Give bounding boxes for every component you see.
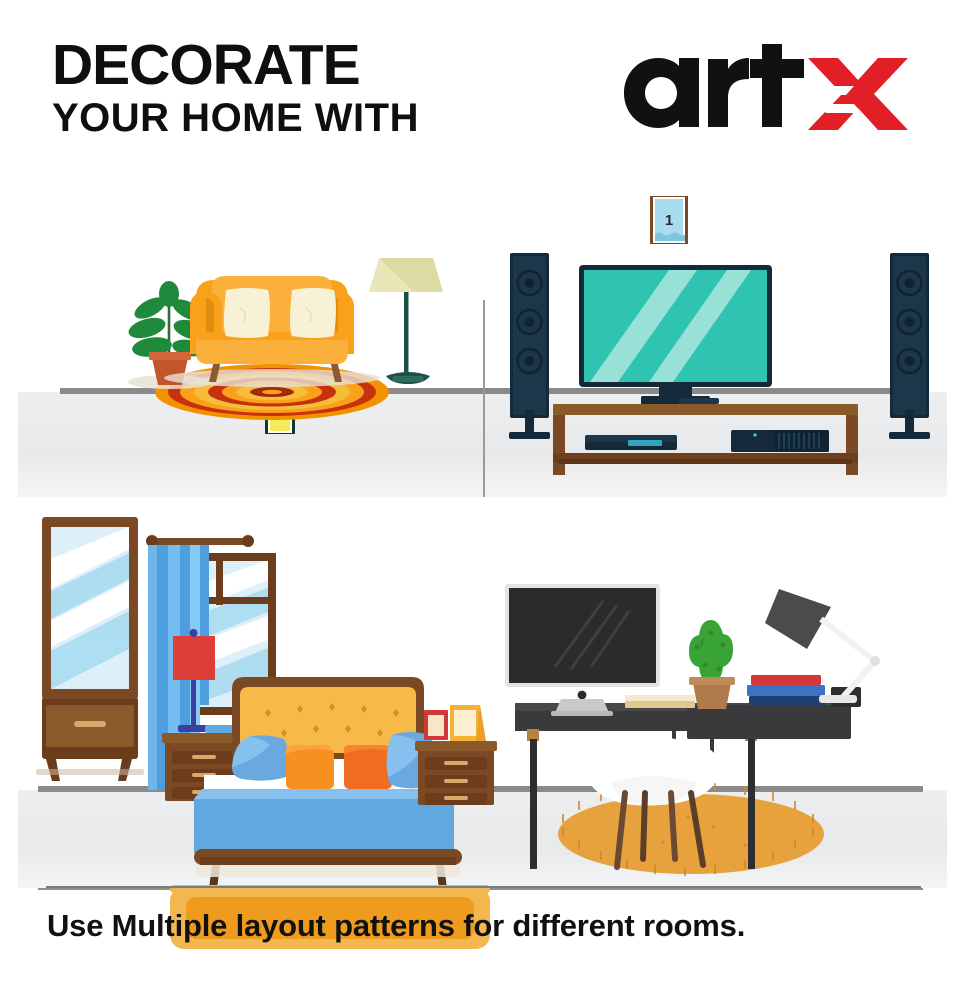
mirror-cabinet[interactable] — [36, 517, 144, 781]
photo-frames — [424, 705, 486, 741]
television[interactable] — [579, 265, 772, 405]
home-office-illustration — [483, 497, 965, 895]
throw-pillow-left — [224, 288, 270, 338]
brand-logo — [612, 44, 912, 140]
poster-root: DECORATE YOUR HOME WITH — [0, 0, 965, 1000]
room-tv-room[interactable]: 1 — [483, 170, 965, 497]
rooms-grid: 1 — [0, 170, 965, 895]
logo-letter-x — [808, 58, 908, 130]
tower-speaker-right — [889, 253, 930, 439]
living-room-illustration — [0, 170, 483, 497]
pillow-orange-right — [344, 745, 392, 789]
bedroom-rug — [0, 887, 483, 1007]
book-stack — [747, 675, 825, 706]
floor-lamp[interactable] — [369, 258, 443, 384]
logo-letter-r — [708, 58, 749, 127]
room-bedroom[interactable]: 1 — [0, 497, 483, 895]
sofa[interactable] — [164, 276, 380, 387]
room-home-office[interactable]: 1 — [483, 497, 965, 895]
room-living-room[interactable]: 1 — [0, 170, 483, 497]
game-console — [731, 430, 829, 452]
logo-svg — [612, 44, 912, 140]
caption-text: Use Multiple layout patterns for differe… — [47, 908, 745, 944]
logo-letter-a — [624, 58, 699, 128]
headline-line-2: YOUR HOME WITH — [52, 95, 419, 141]
paper-stack — [625, 695, 695, 708]
throw-pillow-right — [290, 288, 336, 338]
media-box — [585, 435, 677, 450]
remote — [679, 398, 719, 404]
tv-room-illustration — [483, 170, 965, 497]
tower-speaker-left — [509, 253, 550, 439]
headline-line-1: DECORATE — [52, 38, 419, 93]
logo-letter-t — [750, 44, 804, 127]
bedroom-illustration — [0, 497, 483, 895]
caption-rule — [46, 886, 921, 888]
pillow-orange-left — [286, 745, 334, 789]
header: DECORATE YOUR HOME WITH — [0, 0, 965, 170]
cactus-plant — [689, 620, 735, 709]
wall-art-number-tv-room: 1 — [665, 212, 673, 229]
headline-block: DECORATE YOUR HOME WITH — [52, 38, 419, 141]
